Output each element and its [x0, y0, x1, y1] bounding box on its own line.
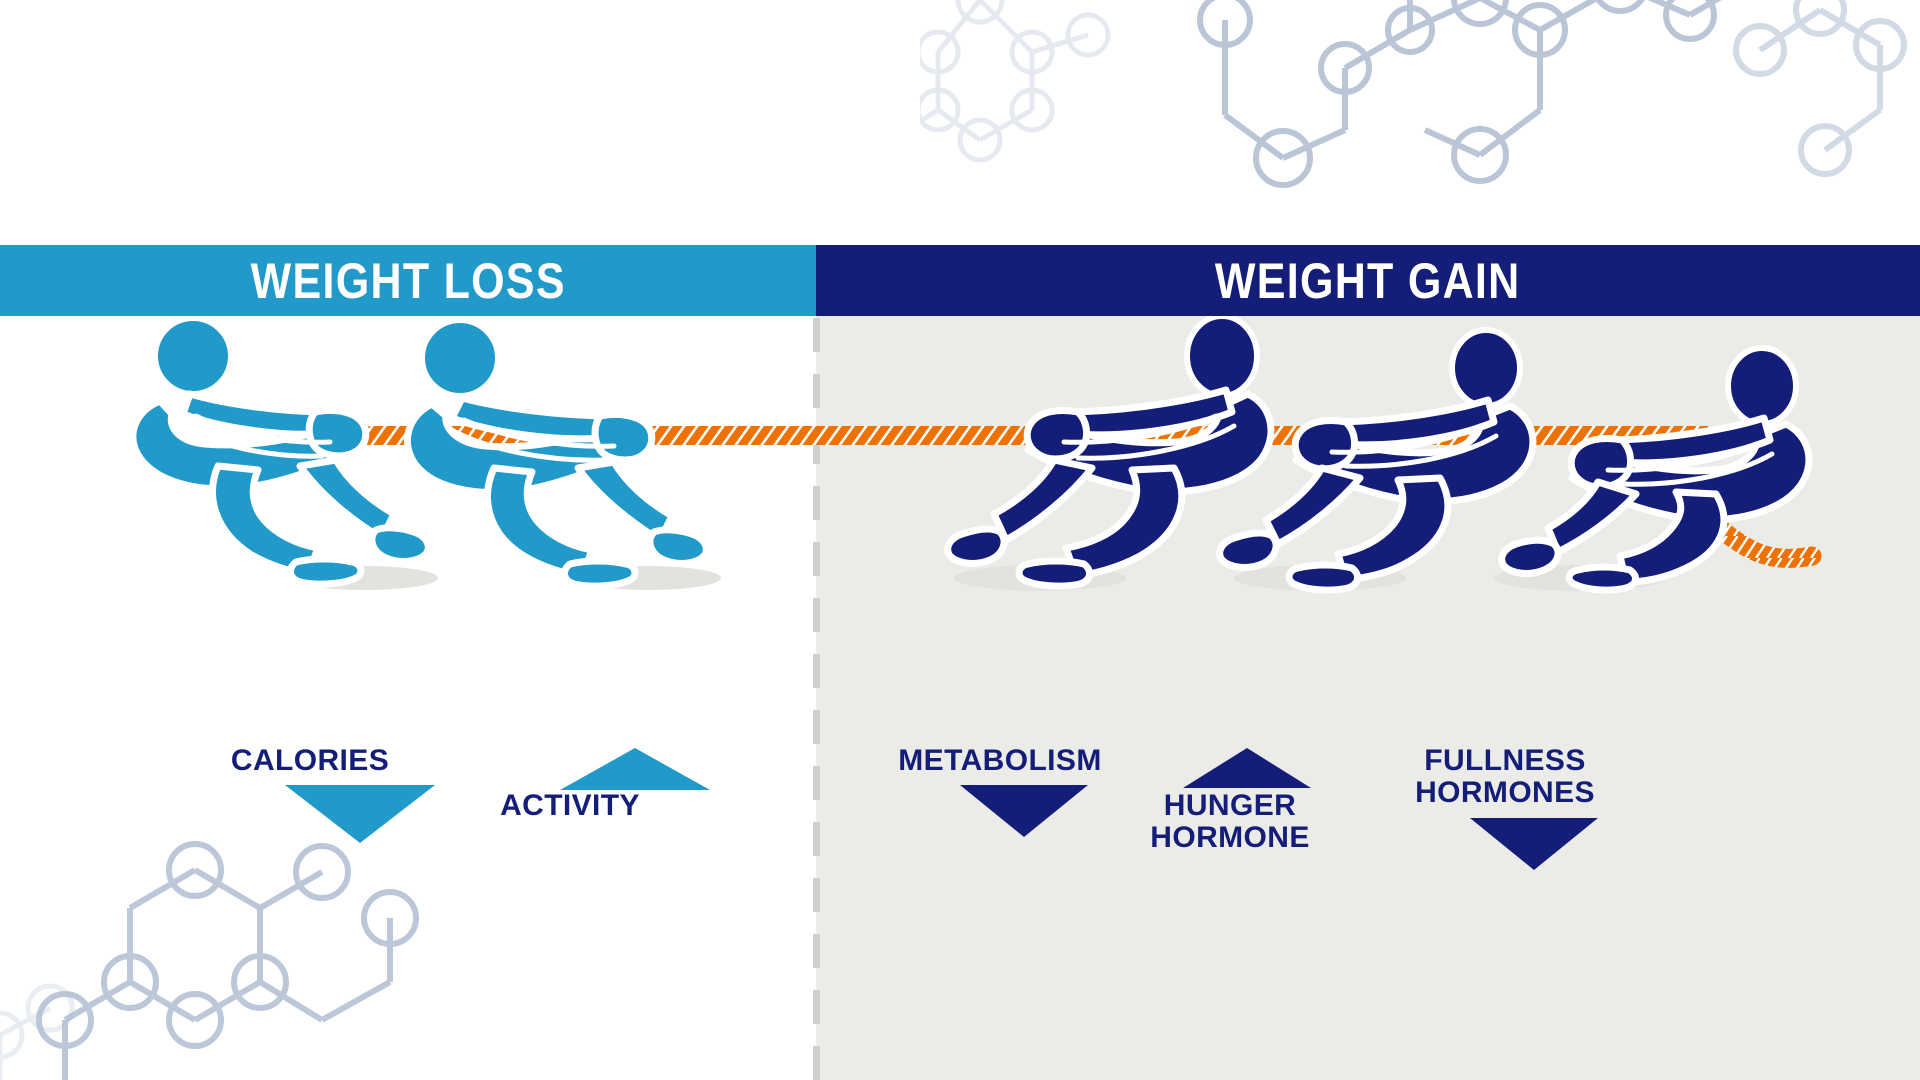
- label-calories: CALORIES: [170, 745, 450, 777]
- arrow-up-icon-activity: [560, 748, 710, 792]
- label-hunger-hormone: HUNGER HORMONE: [1100, 790, 1360, 854]
- label-metabolism: METABOLISM: [830, 745, 1170, 777]
- arrow-down-icon-metabolism: [960, 785, 1088, 839]
- ground-shadows: [292, 565, 1666, 591]
- molecule-decoration-top-right: [920, 0, 1920, 200]
- tug-of-war-scene: [0, 316, 1920, 816]
- arrow-down-icon-calories: [285, 785, 435, 845]
- infographic-canvas: WEIGHT LOSS WEIGHT GAIN: [0, 0, 1920, 1080]
- weight-gain-header-bar: WEIGHT GAIN: [816, 245, 1920, 316]
- weight-loss-title: WEIGHT LOSS: [250, 256, 565, 306]
- weight-gain-title: WEIGHT GAIN: [1215, 256, 1521, 306]
- weight-loss-puller-1: [133, 318, 428, 584]
- weight-loss-puller-2: [407, 320, 706, 586]
- label-activity: ACTIVITY: [430, 790, 710, 822]
- label-fullness-hormones: FULLNESS HORMONES: [1355, 745, 1655, 809]
- arrow-up-icon-hunger-hormone: [1183, 748, 1311, 790]
- weight-loss-header-bar: WEIGHT LOSS: [0, 245, 816, 316]
- weight-gain-puller-2: [1220, 330, 1533, 590]
- arrow-down-icon-fullness-hormones: [1470, 818, 1598, 872]
